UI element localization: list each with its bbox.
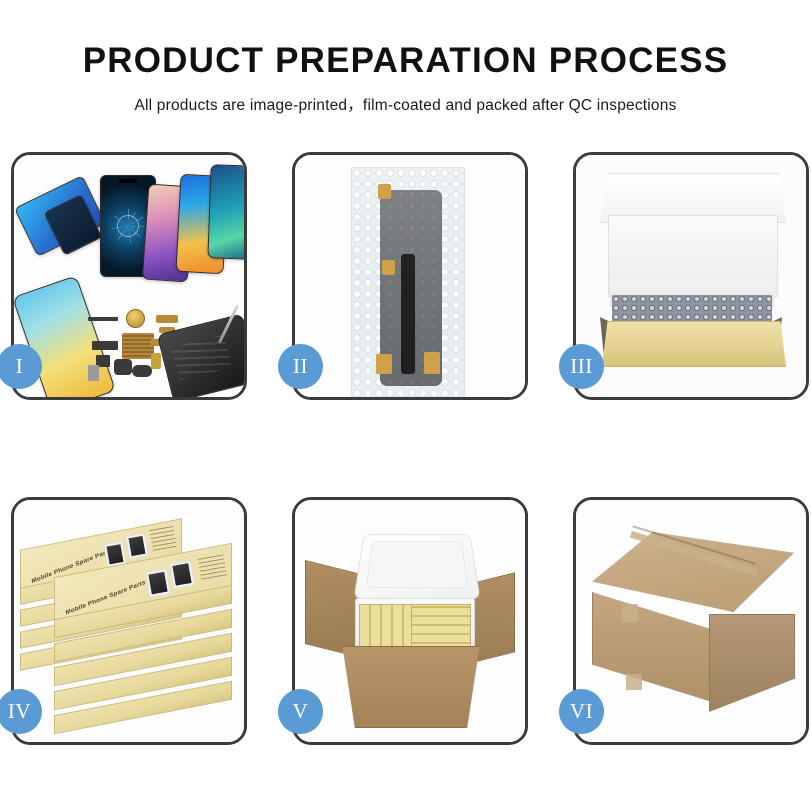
connector-bottom-left <box>376 354 392 374</box>
bubble-wrap-bag <box>351 167 465 397</box>
step-badge-6: VI <box>559 689 604 734</box>
stacked-boxes-illustration: Mobile Phone Spare Parts Mobile Phone Sp… <box>14 500 244 742</box>
step-panel-6: VI <box>573 497 809 745</box>
foam-box-lid <box>353 534 480 599</box>
box-spec-lines-a <box>149 525 176 551</box>
carton-front-panel <box>333 646 489 728</box>
step-panel-5: V <box>292 497 528 745</box>
step-image-5 <box>295 500 525 742</box>
open-inner-box-illustration <box>576 155 806 397</box>
step-panel-2: II <box>292 152 528 400</box>
connector-top <box>378 184 391 199</box>
box-thumb-b2 <box>169 560 195 589</box>
box-front-kraft <box>602 321 786 367</box>
bubble-wrap-illustration <box>295 155 525 397</box>
wrapped-flex-cable <box>401 254 415 374</box>
parts-collage-illustration <box>14 155 244 397</box>
phone-notch <box>119 179 137 183</box>
step-image-2 <box>295 155 525 397</box>
step-badge-5: V <box>278 689 323 734</box>
crack-ring <box>117 215 139 237</box>
sim-tray-part <box>88 365 99 381</box>
page-subtitle: All products are image-printed，film-coat… <box>0 93 811 115</box>
logic-board-part <box>122 333 154 359</box>
phone-backplate <box>157 313 244 397</box>
yellow-boxes-stack <box>411 604 471 652</box>
product-preparation-infographic: PRODUCT PREPARATION PROCESS All products… <box>0 0 811 811</box>
camera-module-part <box>92 341 118 350</box>
speaker-part <box>132 365 152 377</box>
header: PRODUCT PREPARATION PROCESS All products… <box>0 0 811 115</box>
step-panel-1: I <box>11 152 247 400</box>
box-thumb-b1 <box>145 568 171 597</box>
step-image-1 <box>14 155 244 397</box>
earpiece-strip-part <box>88 317 118 321</box>
step-panel-4: Mobile Phone Spare Parts Mobile Phone Sp… <box>11 497 247 745</box>
connector-bottom-right <box>424 352 440 374</box>
step-image-4: Mobile Phone Spare Parts Mobile Phone Sp… <box>14 500 244 742</box>
box-spec-lines-b <box>197 552 227 580</box>
teal-gradient-phone <box>207 164 244 260</box>
step-badge-3: III <box>559 344 604 389</box>
steps-grid: I II <box>11 152 800 745</box>
foam-box-carton-illustration <box>295 500 525 742</box>
step-badge-2: II <box>278 344 323 389</box>
flex-cable-part-a <box>156 315 178 323</box>
page-title: PRODUCT PREPARATION PROCESS <box>0 42 811 81</box>
carton-tape-tab-lower <box>626 674 642 690</box>
carton-tape-tab-upper <box>622 604 638 622</box>
carton-side-face <box>709 614 795 712</box>
box-thumb-a2 <box>125 532 149 559</box>
step-panel-3: III <box>573 152 809 400</box>
battery-connector-part <box>151 353 161 369</box>
step-image-3 <box>576 155 806 397</box>
button-part <box>114 359 132 375</box>
step-image-6 <box>576 500 806 742</box>
carton-front-face <box>592 592 712 702</box>
sealed-carton-illustration <box>576 500 806 742</box>
speaker-mesh-part <box>126 309 145 328</box>
connector-middle <box>382 260 395 275</box>
